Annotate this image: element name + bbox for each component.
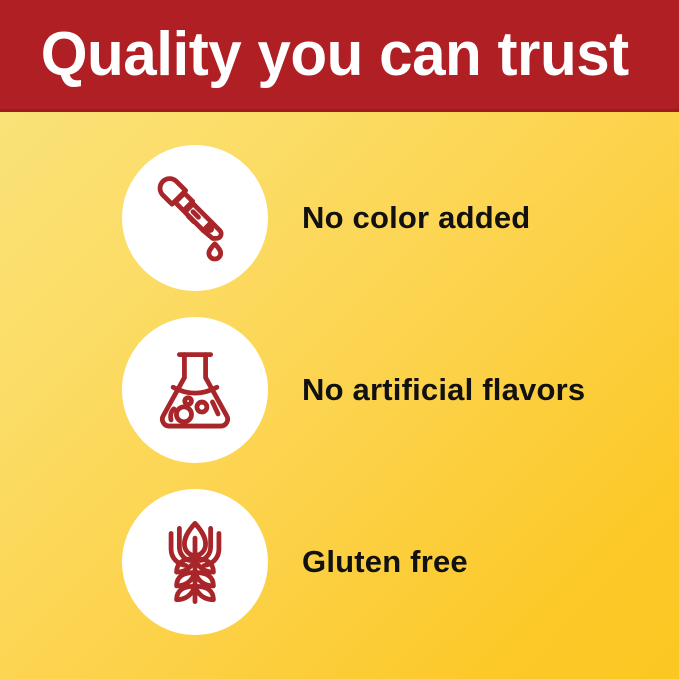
icon-badge (122, 489, 268, 635)
wheat-icon (149, 516, 241, 608)
dropper-icon (149, 172, 241, 264)
quality-infographic: Quality you can trust (0, 0, 679, 679)
flask-icon (149, 344, 241, 436)
feature-item: No color added (0, 145, 679, 291)
icon-badge (122, 145, 268, 291)
feature-label: No artificial flavors (302, 373, 585, 407)
feature-list: No color added (0, 112, 679, 679)
header-banner: Quality you can trust (0, 0, 679, 112)
icon-badge (122, 317, 268, 463)
page-title: Quality you can trust (0, 24, 629, 86)
feature-label: No color added (302, 201, 530, 235)
feature-item: Gluten free (0, 489, 679, 635)
feature-label: Gluten free (302, 545, 468, 579)
feature-item: No artificial flavors (0, 317, 679, 463)
